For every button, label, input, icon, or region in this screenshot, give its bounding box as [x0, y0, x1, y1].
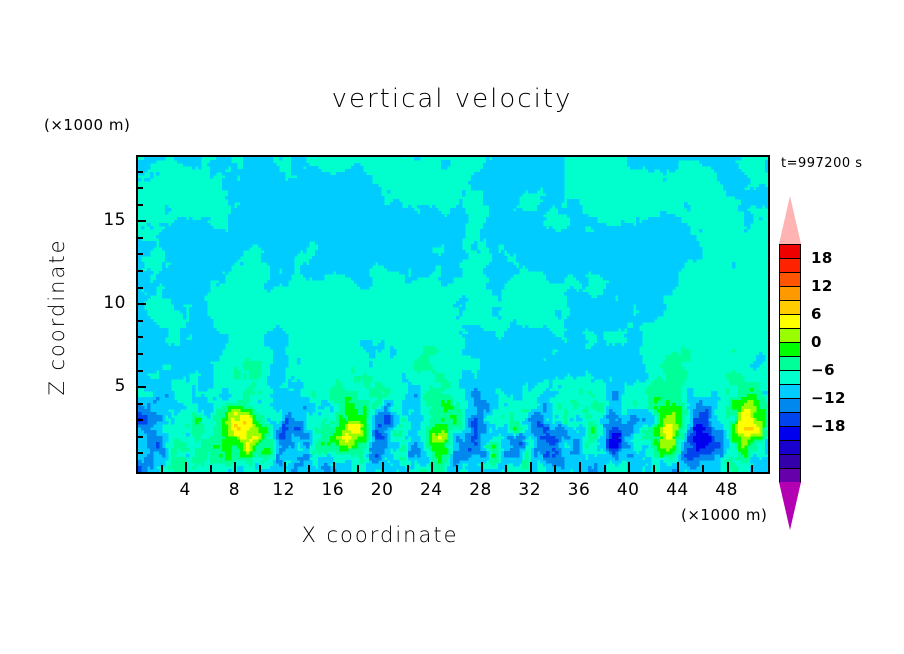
colorbar-band [779, 356, 801, 371]
x-tick [357, 465, 359, 472]
colorbar-band [779, 370, 801, 385]
colorbar-tick-label: −6 [811, 361, 835, 379]
colorbar-band [779, 244, 801, 259]
timestamp-annotation: t=997200 s [781, 156, 863, 171]
y-tick [136, 187, 143, 189]
x-tick [333, 462, 335, 472]
y-tick [136, 452, 143, 454]
y-tick [136, 237, 143, 239]
x-tick-label: 48 [697, 480, 757, 500]
x-tick [431, 462, 433, 472]
colorbar-band [779, 468, 801, 483]
colorbar-band [779, 258, 801, 273]
y-tick [136, 353, 143, 355]
x-tick [727, 462, 729, 472]
y-tick [136, 436, 143, 438]
x-tick [554, 465, 556, 472]
x-tick [653, 465, 655, 472]
y-tick [136, 171, 143, 173]
colorbar-band [779, 426, 801, 441]
x-tick [628, 462, 630, 472]
colorbar-cap-top [779, 196, 801, 244]
x-tick [530, 462, 532, 472]
colorbar-cap-bottom [779, 482, 801, 530]
x-tick [579, 462, 581, 472]
colorbar-band [779, 398, 801, 413]
colorbar-band [779, 342, 801, 357]
x-tick [677, 462, 679, 472]
y-tick [136, 270, 143, 272]
colorbar-tick-label: −12 [811, 389, 846, 407]
y-tick [136, 253, 143, 255]
x-tick [161, 465, 163, 472]
colorbar-tick-label: 6 [811, 305, 822, 323]
y-axis-label: Z coordinate [45, 202, 69, 432]
colorbar-band [779, 272, 801, 287]
x-tick [702, 465, 704, 472]
x-tick [284, 462, 286, 472]
y-tick [136, 419, 143, 421]
colorbar-band [779, 314, 801, 329]
colorbar-tick-label: 0 [811, 333, 822, 351]
vertical-velocity-field [138, 157, 768, 472]
x-tick [210, 465, 212, 472]
y-tick [136, 204, 143, 206]
y-tick [136, 303, 146, 305]
colorbar-band [779, 300, 801, 315]
colorbar-band [779, 454, 801, 469]
y-tick [136, 403, 143, 405]
x-tick [604, 465, 606, 472]
x-tick [505, 465, 507, 472]
colorbar-band [779, 440, 801, 455]
x-tick [382, 462, 384, 472]
y-tick [136, 386, 146, 388]
colorbar-band [779, 328, 801, 343]
y-tick-label: 5 [80, 376, 126, 396]
x-tick [308, 465, 310, 472]
colorbar-band [779, 412, 801, 427]
y-tick [136, 287, 143, 289]
y-tick [136, 336, 143, 338]
x-tick [234, 462, 236, 472]
y-tick [136, 320, 143, 322]
colorbar-tick-label: −18 [811, 417, 846, 435]
colorbar-band [779, 286, 801, 301]
x-tick [185, 462, 187, 472]
y-tick [136, 220, 146, 222]
colorbar-tick-label: 12 [811, 277, 833, 295]
colorbar-band [779, 384, 801, 399]
y-tick [136, 370, 143, 372]
x-tick [481, 462, 483, 472]
colorbar: 181260−6−12−18 [779, 196, 807, 526]
y-tick-label: 15 [80, 210, 126, 230]
x-tick [407, 465, 409, 472]
colorbar-tick-label: 18 [811, 249, 833, 267]
x-tick [751, 465, 753, 472]
x-axis-units-label: (×1000 m) [681, 506, 767, 524]
x-tick [456, 465, 458, 472]
page-title: vertical velocity [0, 84, 904, 114]
x-tick [259, 465, 261, 472]
y-tick-label: 10 [80, 293, 126, 313]
x-axis-label: X coordinate [0, 523, 760, 547]
contour-plot-panel [136, 155, 770, 474]
y-axis-units-label: (×1000 m) [44, 116, 130, 134]
